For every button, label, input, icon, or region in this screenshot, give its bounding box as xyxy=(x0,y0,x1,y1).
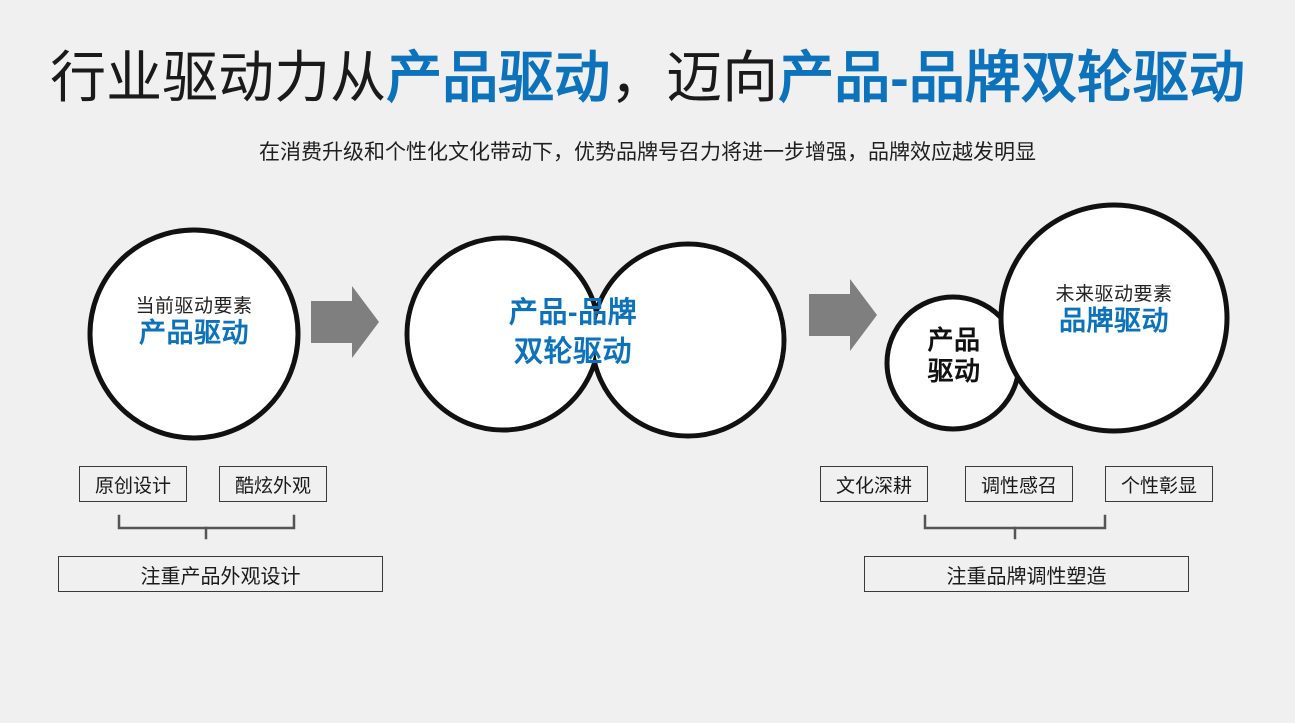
tag-box-personality-display[interactable]: 个性彰显 xyxy=(1105,466,1213,502)
circle-future-driver xyxy=(1001,205,1227,431)
left-brace-connector xyxy=(119,516,294,538)
summary-box-right[interactable]: 注重品牌调性塑造 xyxy=(864,556,1189,592)
diagram-shapes xyxy=(0,0,1295,723)
slide-canvas: 行业驱动力从产品驱动，迈向产品-品牌双轮驱动 在消费升级和个性化文化带动下，优势… xyxy=(0,0,1295,723)
tag-box-culture-depth[interactable]: 文化深耕 xyxy=(820,466,928,502)
arrow-right-icon-1 xyxy=(311,286,379,358)
circle-center-dual xyxy=(407,238,784,436)
tag-box-tonality-appeal[interactable]: 调性感召 xyxy=(965,466,1073,502)
tag-box-cool-appearance[interactable]: 酷炫外观 xyxy=(219,466,327,502)
tag-box-original-design[interactable]: 原创设计 xyxy=(79,466,187,502)
right-brace-connector xyxy=(925,516,1105,538)
arrow-right-icon-2 xyxy=(809,279,877,351)
circle-current-driver xyxy=(90,230,298,438)
summary-box-left[interactable]: 注重产品外观设计 xyxy=(58,556,383,592)
